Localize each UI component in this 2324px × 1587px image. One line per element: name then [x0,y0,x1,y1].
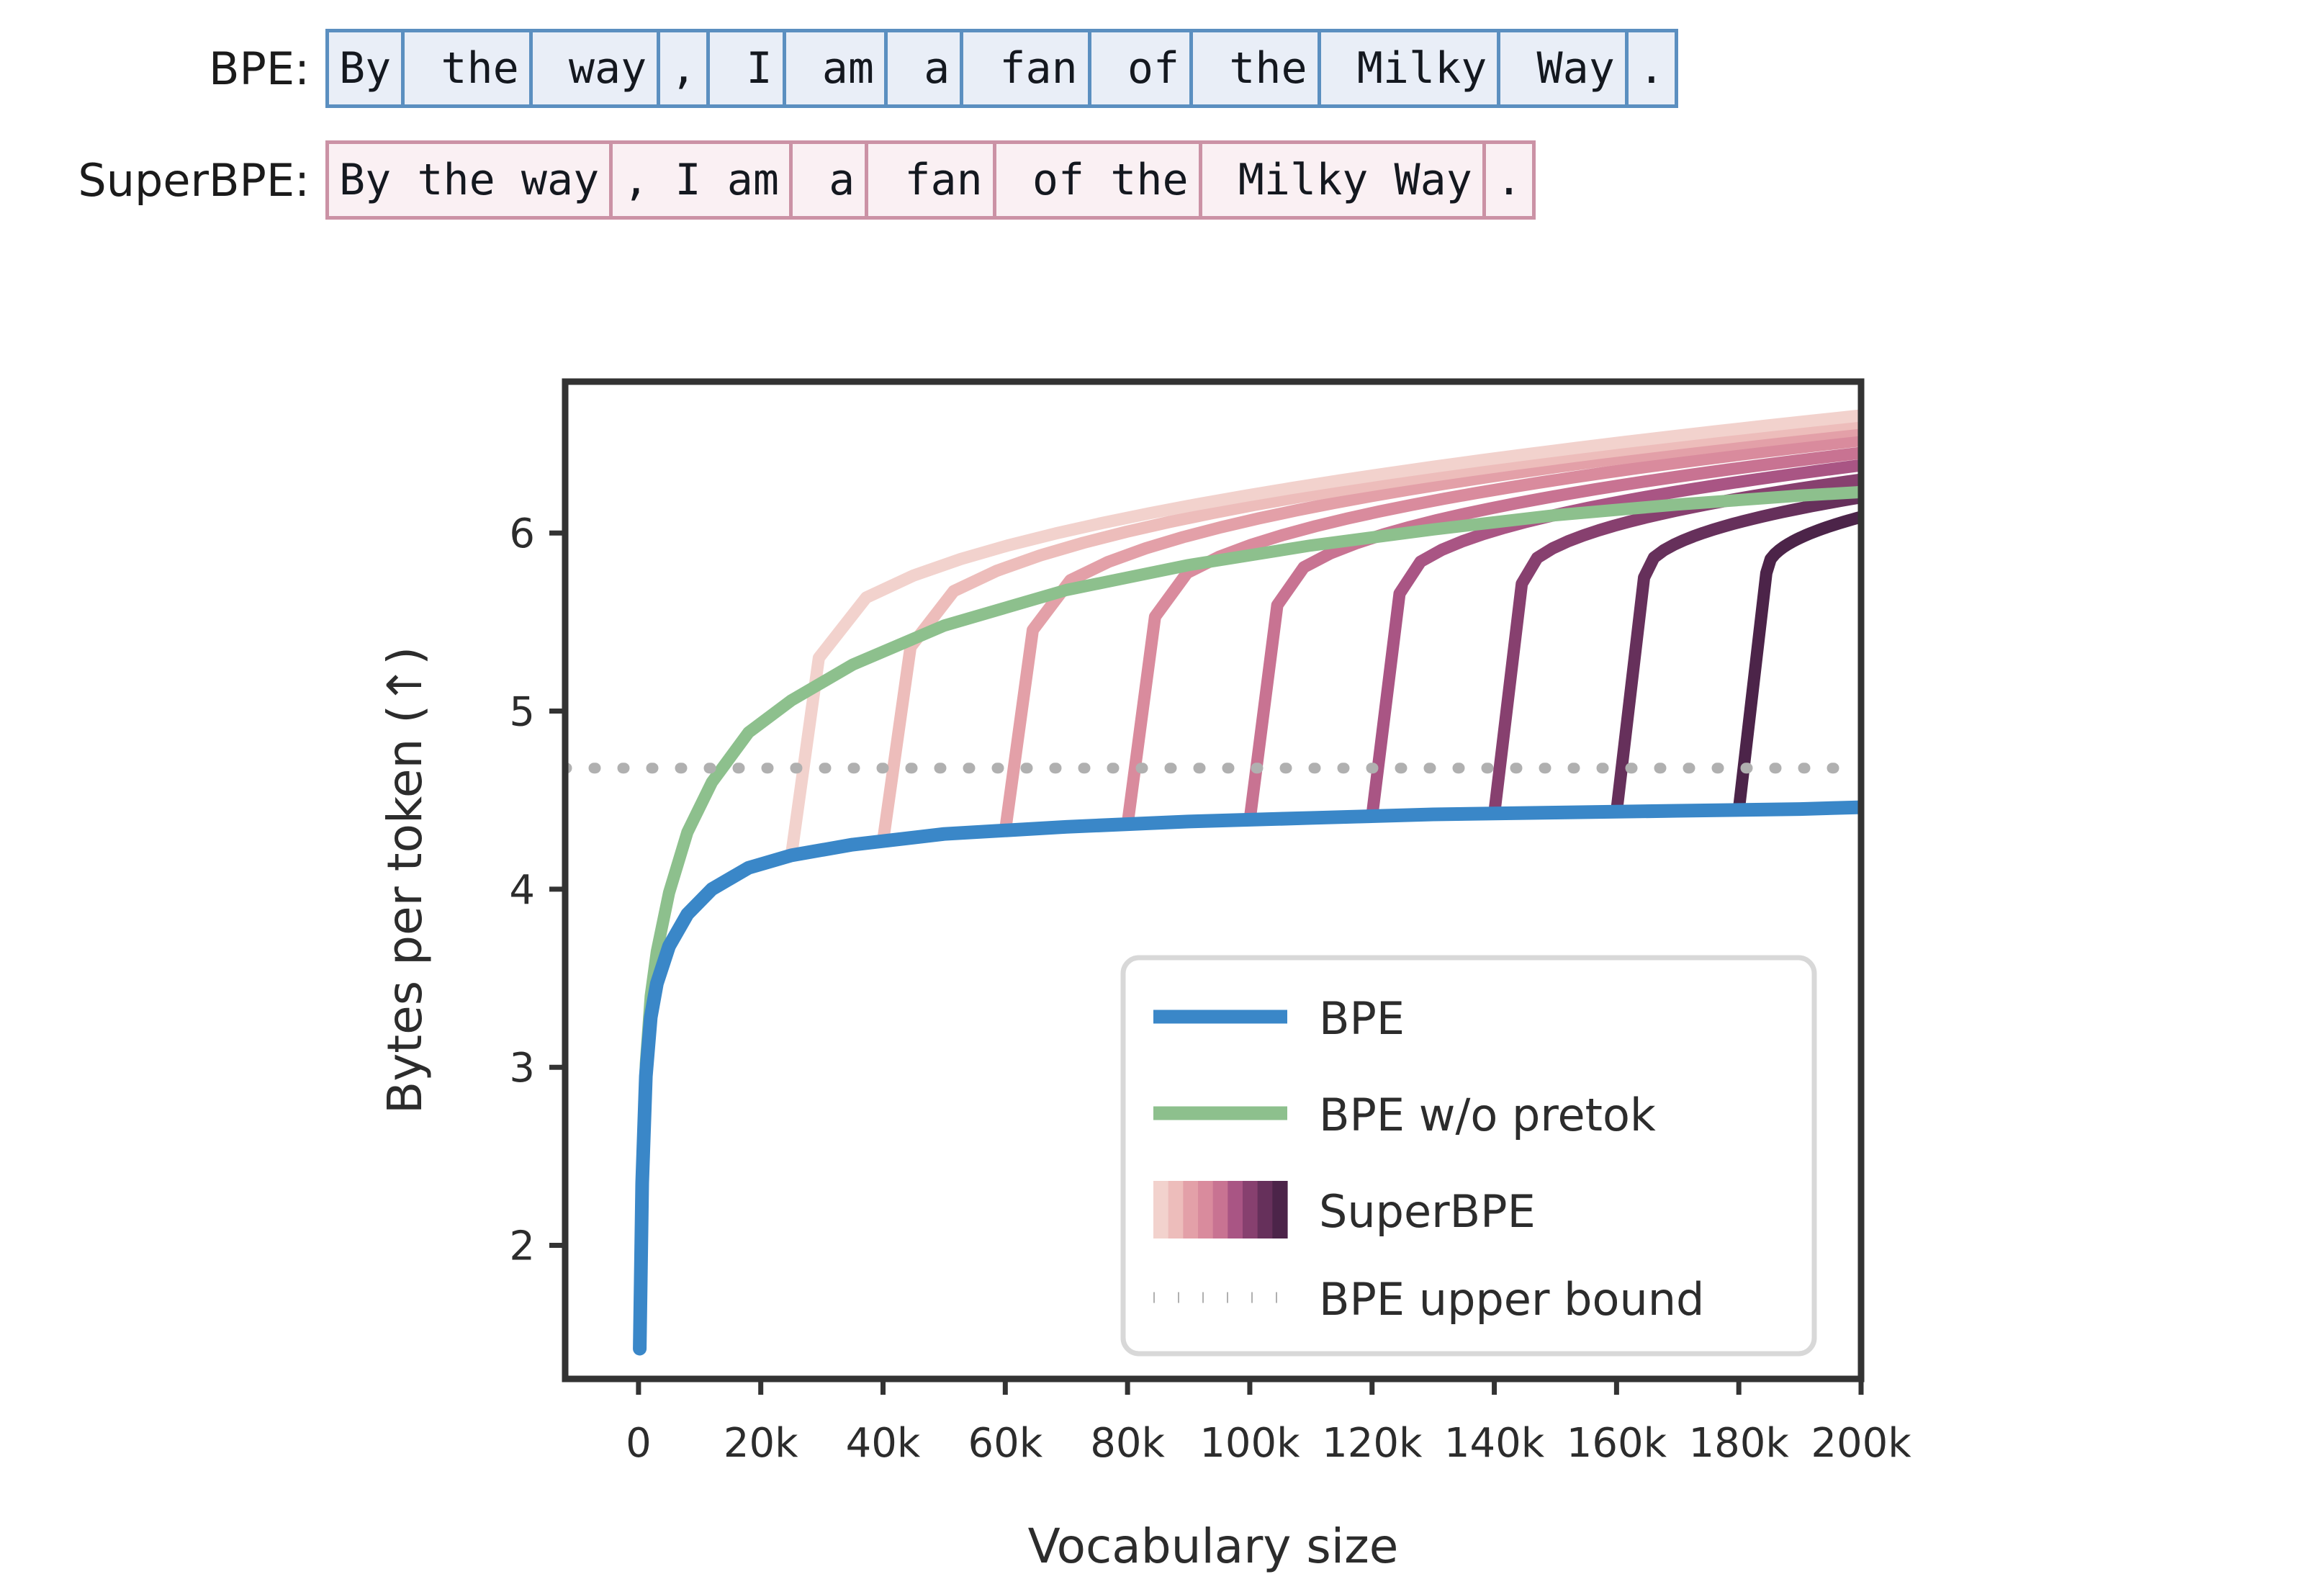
token: fan [963,32,1091,104]
legend-swatch-superbpe-6 [1228,1181,1243,1238]
legend-swatch-superbpe-5 [1213,1181,1228,1238]
y-tick-label: 2 [509,1223,535,1270]
legend-swatch-superbpe-4 [1198,1181,1213,1238]
token: am [786,32,888,104]
legend-label-4: BPE upper bound [1319,1273,1704,1326]
token: By the way [329,144,613,216]
token: of the [996,144,1202,216]
superbpe-row-label: SuperBPE: [0,154,325,207]
y-tick-label: 3 [509,1045,535,1092]
x-tick-label: 120k [1322,1420,1423,1467]
x-tick-label: 140k [1444,1420,1545,1467]
token: Milky Way [1202,144,1486,216]
bpe-token-strip: By the way, I am a fan of the Milky Way. [325,29,1678,108]
x-tick-label: 60k [968,1420,1042,1467]
x-tick-label: 80k [1090,1420,1165,1467]
legend-label-3: SuperBPE [1319,1185,1536,1238]
x-tick-label: 180k [1689,1420,1790,1467]
x-tick-label: 160k [1567,1420,1667,1467]
legend-swatch-superbpe-8 [1258,1181,1273,1238]
superbpe-token-strip: By the way, I am a fan of the Milky Way. [325,140,1536,220]
token: , [660,32,710,104]
token: . [1629,32,1675,104]
legend-label-1: BPE [1319,992,1405,1045]
legend-swatch-superbpe-1 [1153,1181,1168,1238]
x-axis-title: Vocabulary size [1028,1519,1399,1574]
token: a [793,144,868,216]
y-tick-label: 4 [509,867,535,914]
token: By [329,32,405,104]
token: fan [868,144,996,216]
token: of [1091,32,1193,104]
y-tick-label: 6 [509,511,535,557]
x-tick-label: 200k [1811,1420,1911,1467]
y-tick-label: 5 [509,689,535,736]
bpe-tokenization-row: BPE: By the way, I am a fan of the Milky… [0,29,2088,108]
x-tick-label: 100k [1199,1420,1300,1467]
token: way [533,32,661,104]
x-tick-label: 40k [846,1420,921,1467]
token: , I am [613,144,793,216]
legend-swatch-superbpe-2 [1168,1181,1184,1238]
token: the [405,32,533,104]
chart-svg: 020k40k60k80k100k120k140k160k180k200k234… [0,310,2324,1587]
superbpe-tokenization-row: SuperBPE: By the way, I am a fan of the … [0,140,2088,220]
x-tick-label: 20k [724,1420,798,1467]
legend-swatch-superbpe-9 [1272,1181,1287,1238]
y-axis-title: Bytes per token (↑) [377,647,433,1114]
legend-label-2: BPE w/o pretok [1319,1089,1656,1141]
legend-swatch-superbpe-3 [1183,1181,1198,1238]
token: Milky [1321,32,1501,104]
token: . [1486,144,1532,216]
token: I [710,32,785,104]
token: Way [1500,32,1629,104]
legend-swatch-superbpe-7 [1243,1181,1258,1238]
tokenization-panel: BPE: By the way, I am a fan of the Milky… [0,0,2324,302]
token: a [888,32,963,104]
bytes-per-token-chart: 020k40k60k80k100k120k140k160k180k200k234… [0,310,2324,1587]
x-tick-label: 0 [626,1420,652,1467]
token: the [1193,32,1321,104]
bpe-row-label: BPE: [0,42,325,95]
